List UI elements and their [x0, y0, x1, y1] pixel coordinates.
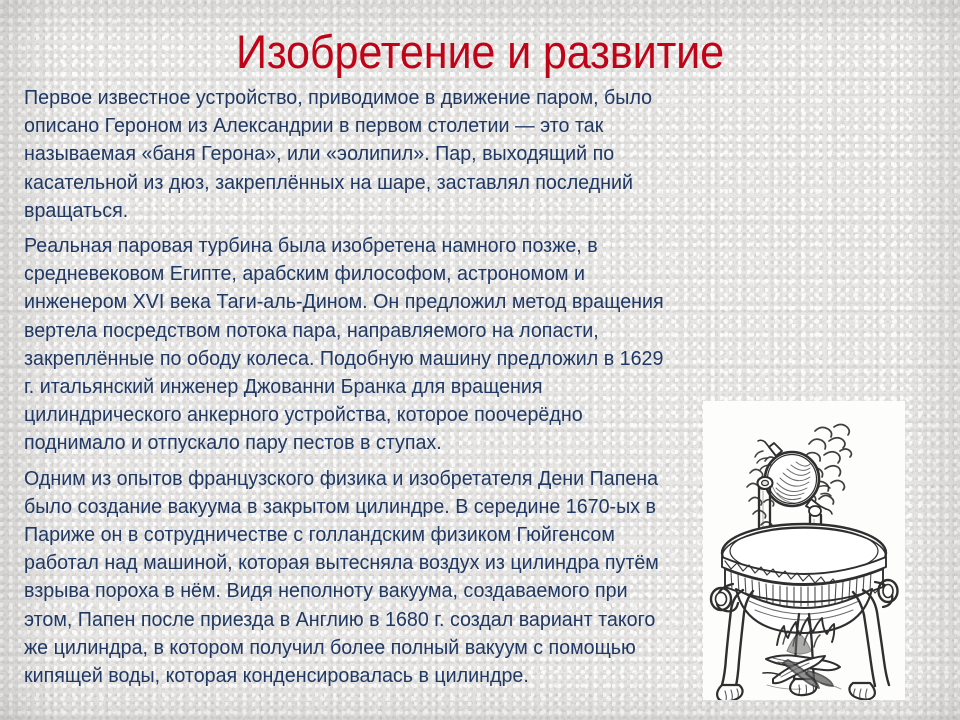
page-title: Изобретение и развитие — [38, 24, 921, 79]
aeolipile-engraving-image — [703, 401, 905, 700]
slide-content: Изобретение и развитие Первое известное … — [0, 0, 960, 720]
paragraph-2: Реальная паровая турбина была изобретена… — [24, 232, 672, 458]
paragraph-3: Одним из опытов французского физика и из… — [24, 465, 672, 691]
body-text-block: Первое известное устройство, приводимое … — [24, 84, 672, 690]
presentation-slide: Изобретение и развитие Первое известное … — [0, 0, 960, 720]
paragraph-1: Первое известное устройство, приводимое … — [24, 84, 672, 225]
aeolipile-illustration — [703, 401, 905, 700]
